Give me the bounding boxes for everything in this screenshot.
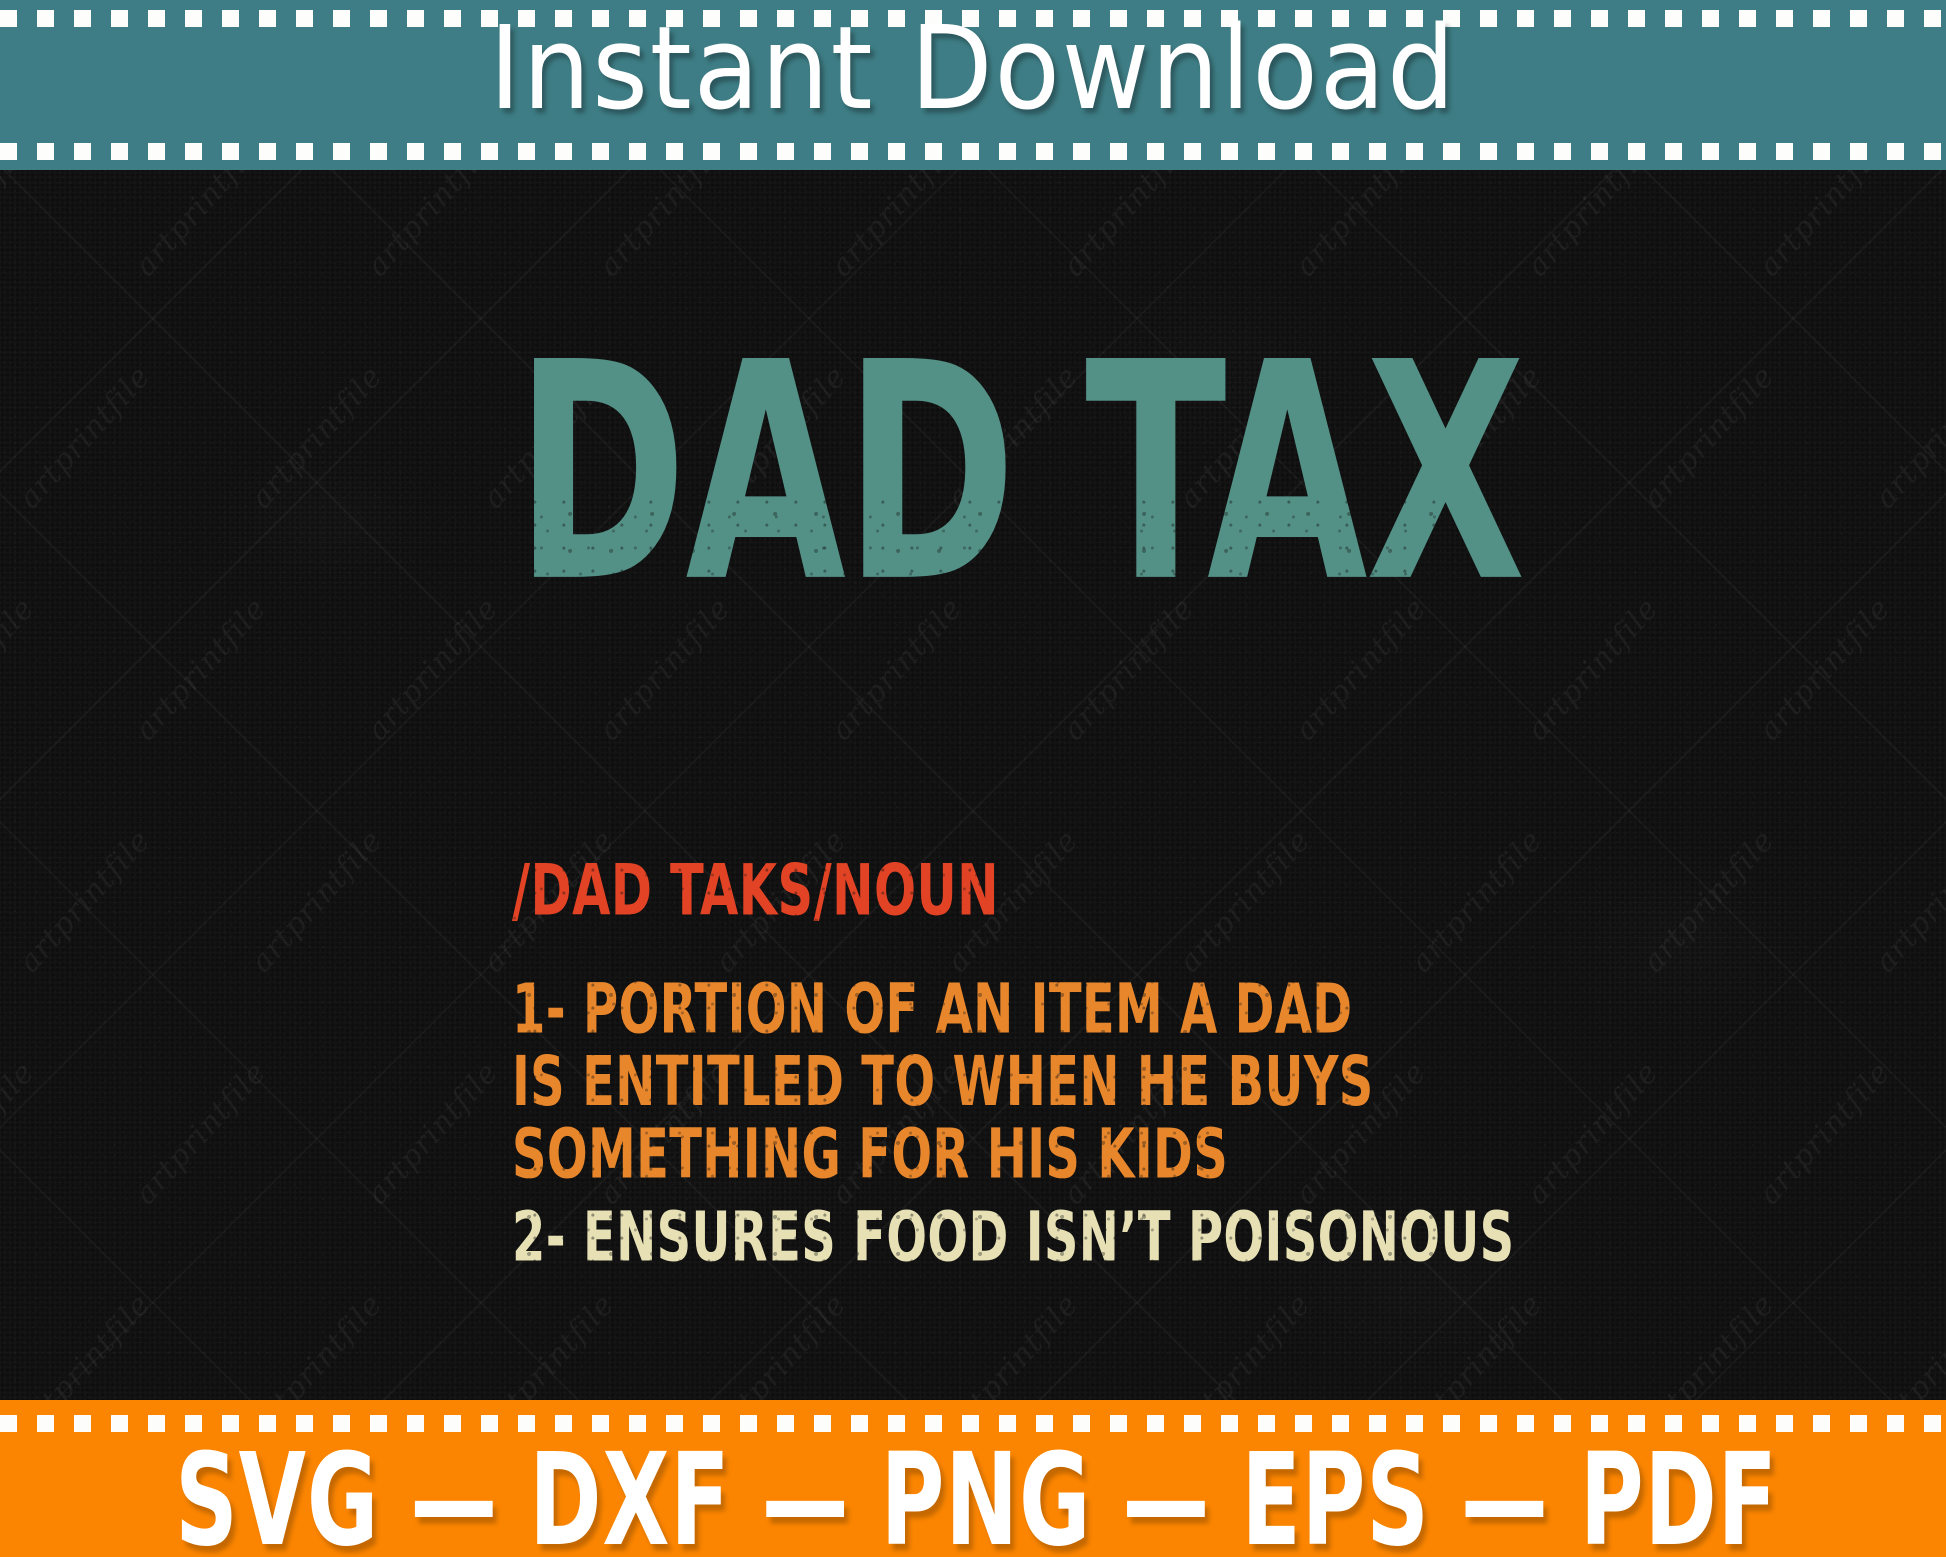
watermark-text: artprintfile (1868, 823, 1946, 979)
design-title: DAD TAX (515, 354, 1524, 595)
watermark-text: artprintfile (1172, 1287, 1318, 1402)
watermark-text: artprintfile (0, 591, 42, 747)
watermark-text: artprintfile (12, 1287, 158, 1402)
file-formats-banner: SVG — DXF — PNG — EPS — PDF (0, 1400, 1946, 1557)
watermark-text: artprintfile (1172, 823, 1318, 979)
watermark-text: artprintfile (128, 1055, 274, 1211)
watermark-text: artprintfile (1636, 359, 1782, 515)
watermark-text: artprintfile (1404, 823, 1550, 979)
watermark-text: artprintfile (708, 1287, 854, 1402)
watermark-text: artprintfile (360, 591, 506, 747)
watermark-text: artprintfile (1520, 1055, 1666, 1211)
watermark-text: artprintfile (1752, 168, 1898, 283)
instant-download-banner: Instant Download (0, 0, 1946, 170)
watermark-text: artprintfile (1520, 168, 1666, 283)
watermark-text: artprintfile (1056, 168, 1202, 283)
watermark-text: artprintfile (0, 1055, 42, 1211)
watermark-text: artprintfile (1636, 1287, 1782, 1402)
watermark-text: artprintfile (360, 168, 506, 283)
instant-download-label: Instant Download (68, 7, 1878, 132)
design-pronunciation: /DAD TAKS/NOUN (512, 856, 999, 926)
product-listing-image: artprintfileartprintfileartprintfileartp… (0, 0, 1946, 1557)
design-definition-one: 1- PORTION OF AN ITEM A DAD IS ENTITLED … (512, 973, 1374, 1191)
watermark-text: artprintfile (360, 1055, 506, 1211)
watermark-text: artprintfile (1288, 168, 1434, 283)
watermark-text: artprintfile (1868, 1287, 1946, 1402)
banner-dashed-line-bottom (0, 143, 1946, 160)
watermark-text: artprintfile (12, 359, 158, 515)
definition-one-line-1: 1- PORTION OF AN ITEM A DAD (512, 973, 1374, 1046)
watermark-text: artprintfile (940, 1287, 1086, 1402)
watermark-text: artprintfile (1520, 591, 1666, 747)
definition-one-line-3: SOMETHING FOR HIS KIDS (512, 1118, 1374, 1191)
watermark-text: artprintfile (244, 1287, 390, 1402)
watermark-text: artprintfile (1752, 1055, 1898, 1211)
file-formats-label: SVG — DXF — PNG — EPS — PDF (175, 1436, 1771, 1557)
watermark-text: artprintfile (244, 359, 390, 515)
watermark-text: artprintfile (592, 168, 738, 283)
watermark-text: artprintfile (128, 591, 274, 747)
watermark-text: artprintfile (1868, 359, 1946, 515)
artwork-canvas: artprintfileartprintfileartprintfileartp… (0, 168, 1946, 1402)
watermark-text: artprintfile (244, 823, 390, 979)
definition-one-line-2: IS ENTITLED TO WHEN HE BUYS (512, 1046, 1374, 1119)
watermark-text: artprintfile (0, 168, 42, 283)
watermark-text: artprintfile (128, 168, 274, 283)
watermark-text: artprintfile (1752, 591, 1898, 747)
watermark-text: artprintfile (1636, 823, 1782, 979)
watermark-text: artprintfile (12, 823, 158, 979)
watermark-text: artprintfile (824, 168, 970, 283)
watermark-text: artprintfile (1404, 1287, 1550, 1402)
watermark-text: artprintfile (476, 1287, 622, 1402)
design-definition-two: 2- ENSURES FOOD ISN’T POISONOUS (512, 1201, 1515, 1274)
